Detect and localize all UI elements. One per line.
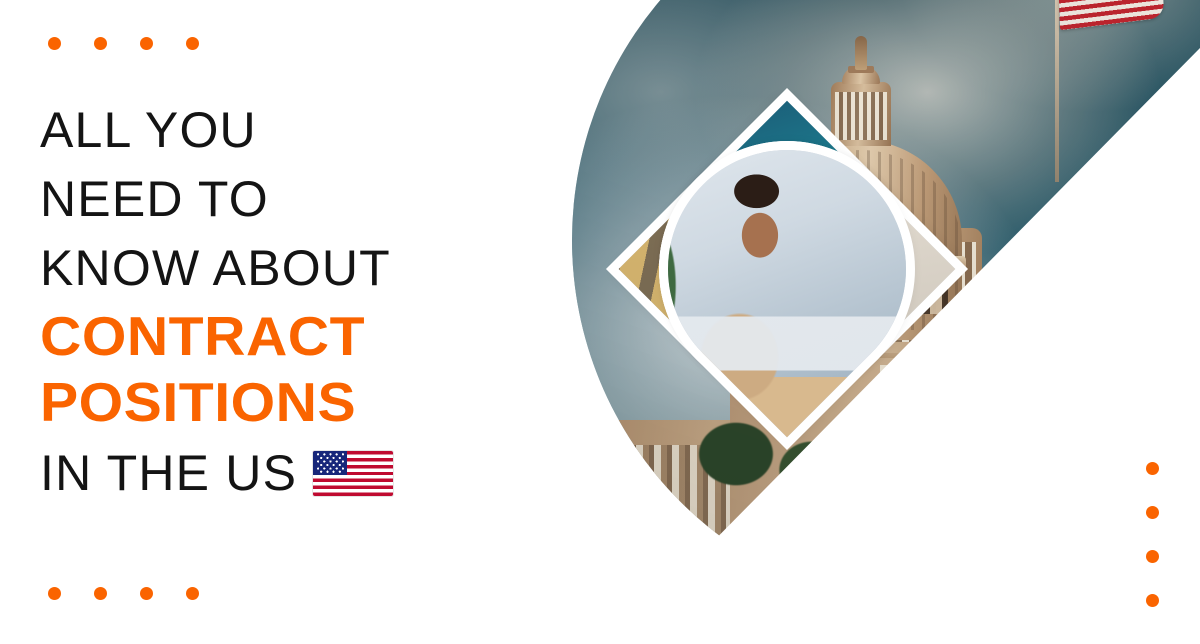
dots-column-right <box>1146 462 1159 607</box>
statue-base <box>848 66 874 73</box>
petal-office[interactable] <box>619 101 956 438</box>
flag-stripes <box>1058 0 1164 30</box>
capitol-cupola-columns <box>835 92 887 140</box>
us-flag-icon <box>313 451 393 496</box>
decor-dot <box>186 587 199 600</box>
headline-line-3: KNOW ABOUT <box>40 234 440 303</box>
foliage <box>692 410 1162 600</box>
decor-dot <box>1146 594 1159 607</box>
headline-line-4: CONTRACT <box>40 303 456 369</box>
capitol-cornice-upper <box>870 320 1200 333</box>
dots-row-bottom <box>48 587 199 600</box>
statue-of-freedom <box>855 36 867 70</box>
decor-dot <box>140 37 153 50</box>
headline-line-1: ALL YOU <box>40 96 440 165</box>
headline-line-5: POSITIONS <box>40 369 456 435</box>
capitol-wing <box>590 420 830 610</box>
headline-line-6-text: IN THE US <box>40 441 297 505</box>
capitol-cupola-top <box>842 66 880 84</box>
office-worker-photo <box>619 101 956 438</box>
decor-dot <box>1146 506 1159 519</box>
us-flag-union <box>313 451 347 475</box>
capitol-cupola <box>831 82 891 146</box>
capitol-wing-columns <box>600 445 825 565</box>
decor-dot <box>94 587 107 600</box>
decor-dot <box>48 587 61 600</box>
capitol-cornice <box>870 332 1200 358</box>
street-lamp <box>872 532 876 578</box>
decor-dot <box>186 37 199 50</box>
decor-dot <box>48 37 61 50</box>
headline-block: ALL YOU NEED TO KNOW ABOUT CONTRACT POSI… <box>40 0 460 644</box>
decor-dot <box>94 37 107 50</box>
decor-dot <box>1146 462 1159 475</box>
page-title: ALL YOU NEED TO KNOW ABOUT CONTRACT POSI… <box>40 96 440 505</box>
banner-root: ALL YOU NEED TO KNOW ABOUT CONTRACT POSI… <box>0 0 1200 644</box>
street-lamp <box>944 538 948 578</box>
flag-pole <box>1055 0 1059 182</box>
street-lamp <box>1024 528 1028 578</box>
dots-row-top <box>48 37 199 50</box>
american-flag-icon <box>1059 0 1163 24</box>
decor-dot <box>1146 550 1159 563</box>
headline-line-2: NEED TO <box>40 165 440 234</box>
decor-dot <box>140 587 153 600</box>
headline-line-6: IN THE US <box>40 441 440 505</box>
